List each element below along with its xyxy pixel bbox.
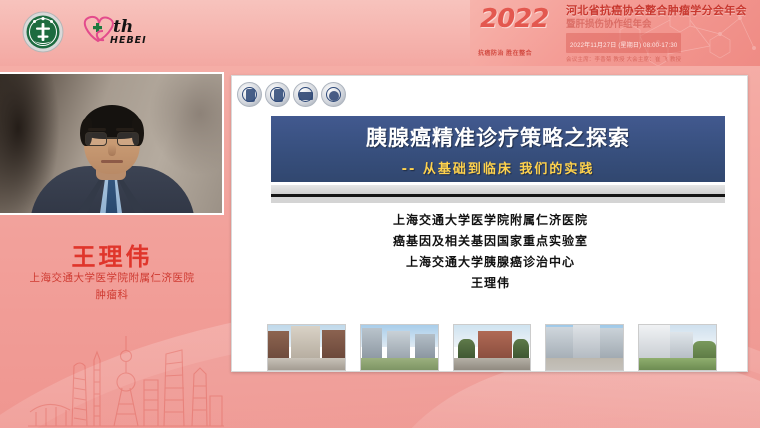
photo-white-building [638, 324, 717, 371]
banner-slogan: 抗癌防治 胜在整合 [478, 48, 564, 57]
presentation-slide[interactable]: 胰腺癌精准诊疗策略之探索 -- 从基础到临床 我们的实践 上海交通大学医学院附属… [231, 75, 748, 372]
slide-divider-gray-bottom [271, 197, 725, 203]
banner-title: 河北省抗癌协会整合肿瘤学分会年会 [566, 5, 756, 18]
slide-body-text: 上海交通大学医学院附属仁济医院 癌基因及相关基因国家重点实验室 上海交通大学胰腺… [232, 210, 748, 294]
event-header-bar: th HEBEI 2022 [0, 0, 760, 66]
hebei-4th-logo: th HEBEI [80, 12, 156, 50]
glasses-lens-right [117, 132, 139, 146]
photo-glass-entrance [545, 324, 624, 371]
video-background-highlight [150, 74, 222, 174]
photo-hospital-brick [267, 324, 346, 371]
banner-year-logo: 2022 [480, 6, 560, 46]
institution-logo-4-icon [321, 82, 346, 107]
glasses-bridge [107, 137, 117, 139]
institution-logo-1-icon [237, 82, 262, 107]
speaker-affiliation-line-1: 上海交通大学医学院附属仁济医院 [0, 270, 224, 287]
slide-institution-logos [237, 82, 346, 107]
institution-logo-2-icon [265, 82, 290, 107]
slide-body-line: 上海交通大学胰腺癌诊治中心 [232, 252, 748, 273]
banner-year-text: 2022 [480, 6, 560, 32]
banner-hosts: 会议主席：李香菊 教授 大会主席：崔 飞 教授 [566, 55, 756, 63]
banner-date-bar: 2022年11月27日 (星期日) 08:00-17:30 [566, 33, 681, 53]
presentation-webinar-screen: th HEBEI 2022 [0, 0, 760, 428]
caa-emblem-logo [22, 11, 64, 53]
slide-divider-gray-top [271, 185, 725, 194]
speaker-name: 王理伟 [0, 237, 224, 272]
slide-photo-strip [267, 324, 717, 371]
banner-subtitle: 暨肝损伤协作组年会 [566, 19, 756, 31]
banner-text-block: 河北省抗癌协会整合肿瘤学分会年会 暨肝损伤协作组年会 2022年11月27日 (… [566, 5, 756, 63]
svg-text:th: th [113, 17, 133, 37]
speaker-affiliation-line-2: 肿瘤科 [0, 287, 224, 304]
banner-date: 2022年11月27日 (星期日) 08:00-17:30 [570, 43, 677, 49]
glasses-lens-left [85, 132, 107, 146]
institution-logo-3-icon [293, 82, 318, 107]
speaker-name-card: 王理伟 上海交通大学医学院附属仁济医院 肿瘤科 [0, 215, 224, 315]
header-left-logos: th HEBEI [0, 0, 470, 66]
photo-modern-towers [360, 324, 439, 371]
slide-title: 胰腺癌精准诊疗策略之探索 [366, 122, 630, 152]
speaker-video[interactable] [0, 74, 222, 213]
slide-body-line: 上海交通大学医学院附属仁济医院 [232, 210, 748, 231]
slide-title-band: 胰腺癌精准诊疗策略之探索 -- 从基础到临床 我们的实践 [271, 116, 725, 182]
photo-campus-trees [453, 324, 532, 371]
slide-body-line: 王理伟 [232, 273, 748, 294]
shanghai-skyline-watermark [26, 330, 226, 428]
event-banner: 2022 抗癌防治 胜在整合 河北省抗癌协会整合肿瘤学分会年会 暨肝损伤协作组年… [470, 0, 760, 66]
speaker-mouth [101, 160, 123, 163]
svg-text:HEBEI: HEBEI [110, 35, 147, 46]
speaker-eyebrow-right [116, 128, 134, 131]
speaker-affiliation: 上海交通大学医学院附属仁济医院 肿瘤科 [0, 270, 224, 304]
slide-subtitle: -- 从基础到临床 我们的实践 [402, 158, 595, 177]
speaker-nose [108, 144, 116, 156]
speaker-eyebrow-left [88, 128, 106, 131]
slide-body-line: 癌基因及相关基因国家重点实验室 [232, 231, 748, 252]
